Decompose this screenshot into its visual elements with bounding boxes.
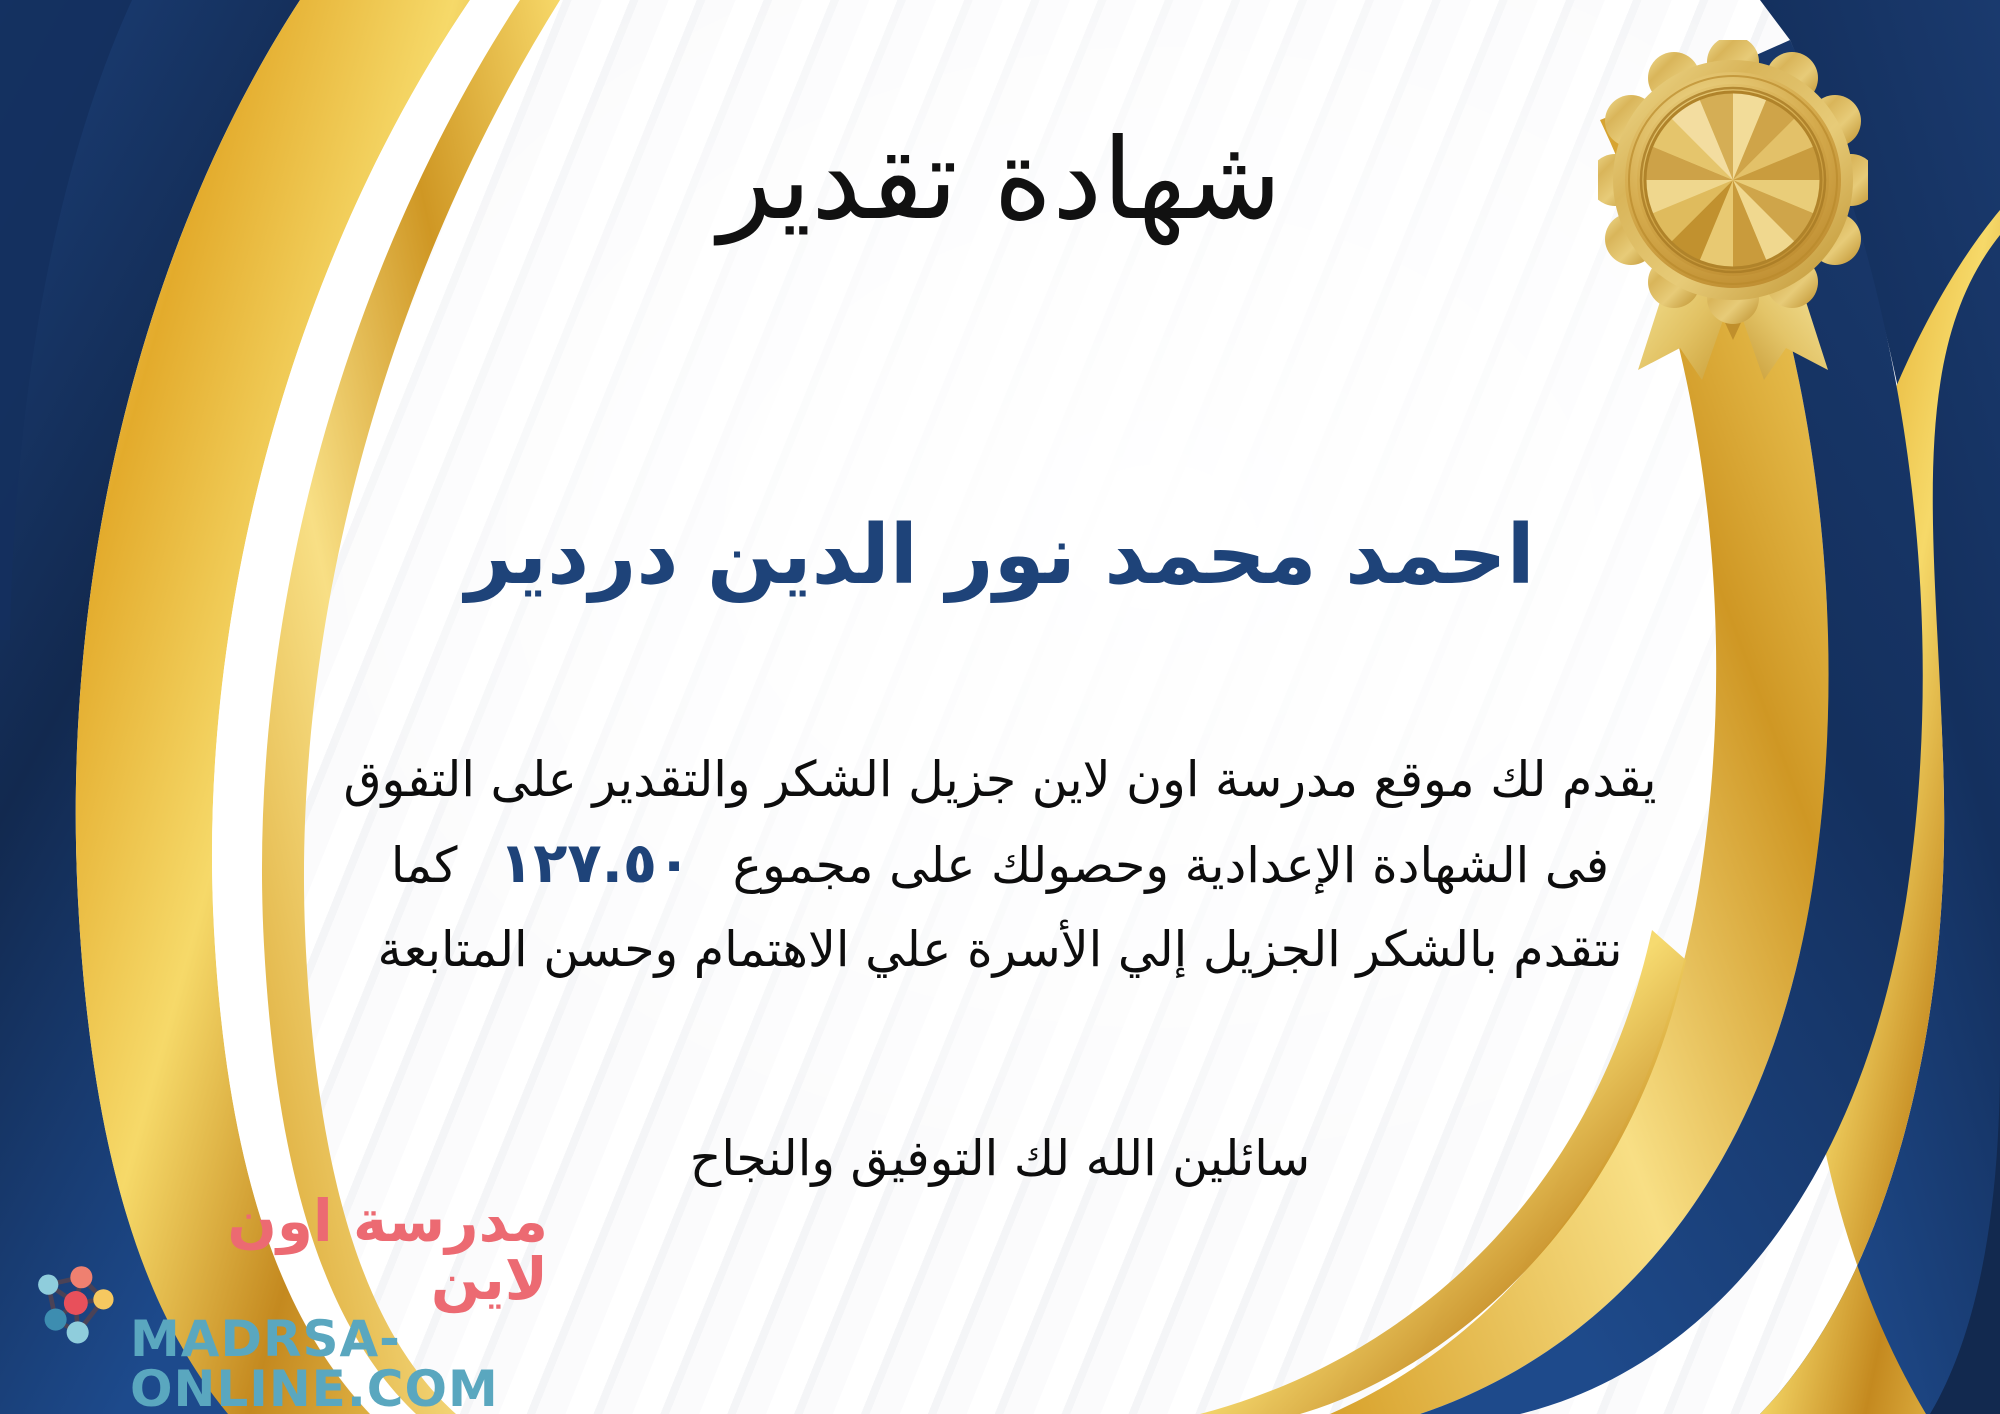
body-line-3: نتقدم بالشكر الجزيل إلي الأسرة علي الاهت… <box>60 910 1940 989</box>
score-line-prefix: فى الشهادة الإعدادية وحصولك على مجموع <box>733 837 1609 894</box>
certificate-page: شهادة تقدير احمد محمد نور الدين دردير يق… <box>0 0 2000 1414</box>
brand-url: MADRSA-ONLINE.COM <box>130 1314 548 1414</box>
page-title: شهادة تقدير <box>0 120 2000 241</box>
score-value: ١٢٧.٥٠ <box>473 831 717 896</box>
brand-arabic-name: مدرسة اون لاين <box>130 1192 548 1308</box>
body-line-1: يقدم لك موقع مدرسة اون لاين جزيل الشكر و… <box>60 740 1940 819</box>
brand-logo[interactable]: مدرسة اون لاين MADRSA-ONLINE.COM <box>28 1228 548 1378</box>
network-nodes-icon <box>28 1257 120 1349</box>
certificate-body: يقدم لك موقع مدرسة اون لاين جزيل الشكر و… <box>60 740 1940 989</box>
score-line-suffix: كما <box>391 837 458 894</box>
closing-wish: سائلين الله لك التوفيق والنجاح <box>0 1130 2000 1187</box>
brand-text: مدرسة اون لاين MADRSA-ONLINE.COM <box>130 1192 548 1414</box>
student-name: احمد محمد نور الدين دردير <box>0 510 2000 602</box>
body-line-2-score: فى الشهادة الإعدادية وحصولك على مجموع ١٢… <box>60 819 1940 910</box>
